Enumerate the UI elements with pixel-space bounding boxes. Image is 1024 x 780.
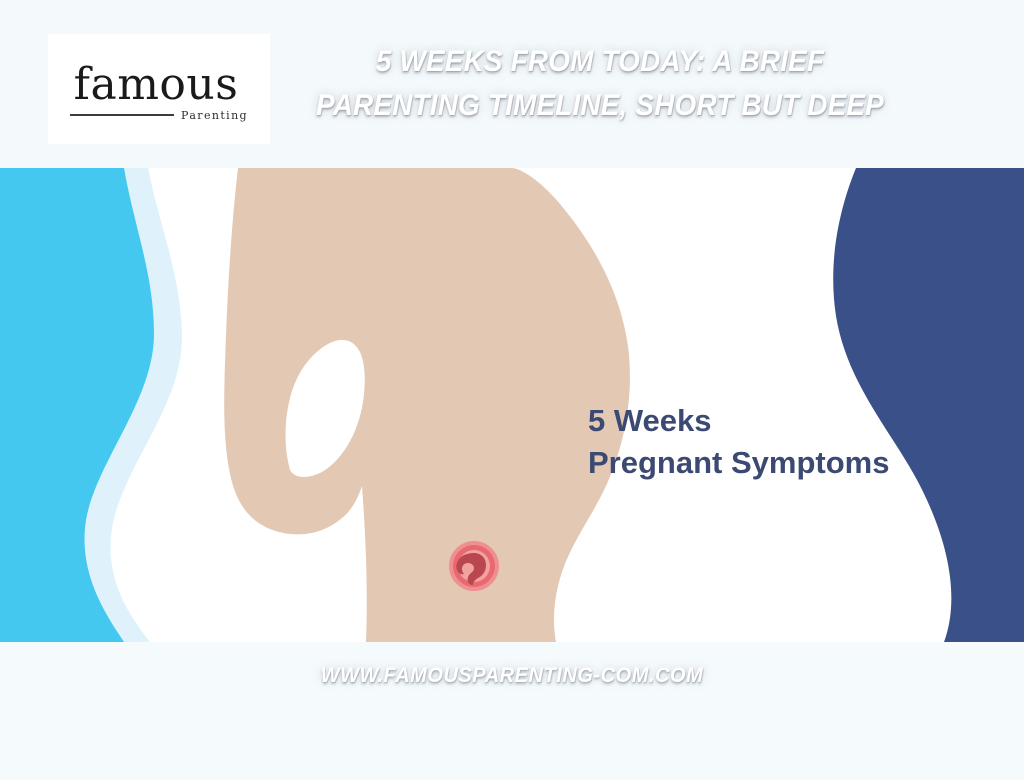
footer-band: www.famousparenting-com.com (0, 642, 1024, 780)
site-url[interactable]: www.famousparenting-com.com (26, 664, 999, 688)
illustration-band: 5 Weeks Pregnant Symptoms (0, 168, 1024, 642)
caption-line-2: Pregnant Symptoms (588, 442, 889, 484)
page-title: 5 Weeks From Today: A Brief Parenting Ti… (302, 40, 897, 128)
embryo-icon (449, 541, 499, 591)
logo-subtext: Parenting (181, 109, 248, 122)
logo-underrow: Parenting (70, 109, 248, 122)
header-band: famous Parenting 5 Weeks From Today: A B… (0, 0, 1024, 168)
logo-wordmark: famous (74, 63, 239, 107)
illustration-caption: 5 Weeks Pregnant Symptoms (588, 400, 889, 484)
caption-line-1: 5 Weeks (588, 400, 889, 442)
logo-divider-rule (70, 114, 174, 116)
site-logo[interactable]: famous Parenting (48, 34, 270, 144)
